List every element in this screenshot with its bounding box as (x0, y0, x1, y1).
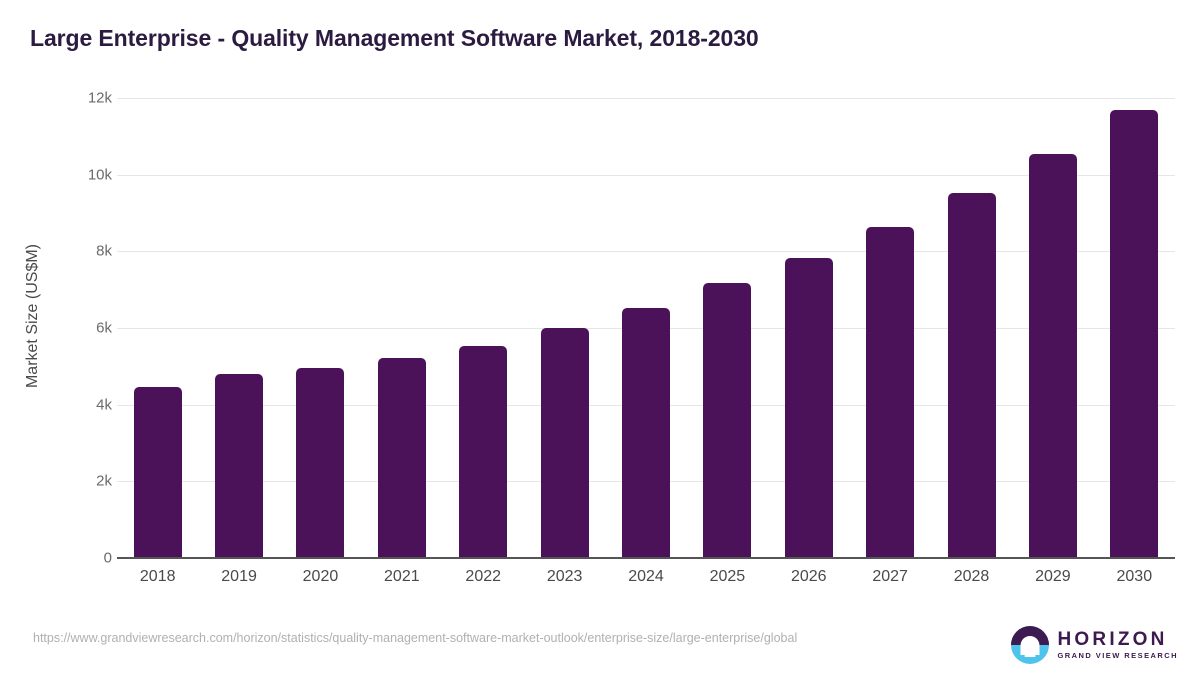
bar-slot (443, 98, 524, 558)
bar-slot (849, 98, 930, 558)
y-axis-tick-label: 0 (42, 550, 112, 567)
plot-area: Market Size (US$M) 02k4k6k8k10k12k 20182… (0, 85, 1200, 585)
x-axis-tick-label-2022: 2022 (443, 568, 524, 586)
x-axis-tick-label-2025: 2025 (687, 568, 768, 586)
x-axis-tick-label-2027: 2027 (849, 568, 930, 586)
bar-slot (361, 98, 442, 558)
bar-2024[interactable] (622, 308, 670, 558)
bar-slot (768, 98, 849, 558)
x-axis-tick-label-2018: 2018 (117, 568, 198, 586)
horizon-logo: HORIZON GRAND VIEW RESEARCH (1011, 626, 1178, 664)
y-axis-title: Market Size (US$M) (24, 221, 42, 411)
x-axis-tick-label-2020: 2020 (280, 568, 361, 586)
x-axis-tick-label-2026: 2026 (768, 568, 849, 586)
y-axis-tick-label: 6k (42, 320, 112, 337)
logo-ray-1 (1021, 650, 1038, 652)
chart-footer: https://www.grandviewresearch.com/horizo… (0, 620, 1200, 675)
logo-name: HORIZON (1058, 630, 1178, 649)
bar-2019[interactable] (215, 374, 263, 558)
x-axis-tick-label-2024: 2024 (605, 568, 686, 586)
page-title: Large Enterprise - Quality Management So… (30, 25, 759, 52)
bar-slot (198, 98, 279, 558)
x-axis-tick-label-2029: 2029 (1012, 568, 1093, 586)
bar-2030[interactable] (1110, 110, 1158, 558)
bar-2023[interactable] (541, 328, 589, 558)
y-axis-tick-label: 4k (42, 396, 112, 413)
source-url[interactable]: https://www.grandviewresearch.com/horizo… (33, 630, 933, 647)
bar-2018[interactable] (134, 387, 182, 558)
logo-tagline: GRAND VIEW RESEARCH (1058, 652, 1178, 660)
logo-wordmark: HORIZON GRAND VIEW RESEARCH (1058, 630, 1178, 660)
x-axis-tick-label-2021: 2021 (361, 568, 442, 586)
logo-ray-2 (1024, 655, 1035, 657)
x-axis-tick-label-2030: 2030 (1094, 568, 1175, 586)
bar-slot (1094, 98, 1175, 558)
bar-slot (687, 98, 768, 558)
bar-slot (524, 98, 605, 558)
bar-slot (1012, 98, 1093, 558)
y-axis-tick-label: 2k (42, 473, 112, 490)
bar-2028[interactable] (948, 193, 996, 558)
bar-slot (605, 98, 686, 558)
x-axis-tick-label-2019: 2019 (198, 568, 279, 586)
x-axis-tick-label-2023: 2023 (524, 568, 605, 586)
y-axis-tick-label: 8k (42, 243, 112, 260)
bar-2021[interactable] (378, 358, 426, 558)
bars-group (117, 98, 1175, 558)
bar-slot (117, 98, 198, 558)
bar-2029[interactable] (1029, 154, 1077, 558)
bar-2025[interactable] (703, 283, 751, 558)
bar-2026[interactable] (785, 258, 833, 558)
chart-page: Large Enterprise - Quality Management So… (0, 0, 1200, 675)
bar-2022[interactable] (459, 346, 507, 558)
bar-slot (931, 98, 1012, 558)
y-axis-tick-label: 10k (42, 166, 112, 183)
bar-2027[interactable] (866, 227, 914, 558)
plot-canvas: 02k4k6k8k10k12k 201820192020202120222023… (117, 98, 1175, 559)
horizon-logo-icon (1011, 626, 1049, 664)
bar-slot (280, 98, 361, 558)
x-axis-line (117, 557, 1175, 559)
y-axis-tick-label: 12k (42, 90, 112, 107)
bar-2020[interactable] (296, 368, 344, 558)
x-axis-tick-label-2028: 2028 (931, 568, 1012, 586)
